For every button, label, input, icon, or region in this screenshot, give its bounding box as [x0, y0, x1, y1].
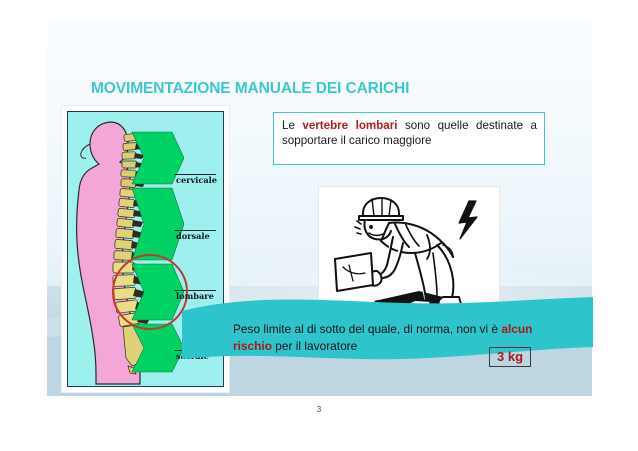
footer-note-before: Peso limite al di sotto del quale, di no… — [233, 322, 501, 336]
footer-note-after: per il lavoratore — [272, 339, 357, 353]
weight-badge: 3 kg — [489, 347, 531, 367]
callout-textbox: Le vertebre lombari sono quelle destinat… — [273, 112, 545, 165]
callout-paragraph: Le vertebre lombari sono quelle destinat… — [282, 118, 537, 148]
screenshot-root: MOVIMENTAZIONE MANUALE DEI CARICHI — [0, 0, 638, 451]
page-number: 3 — [0, 405, 638, 414]
page-title: MOVIMENTAZIONE MANUALE DEI CARICHI — [91, 80, 409, 98]
spine-label-dorsale: dorsale — [176, 231, 210, 241]
region-chevrons-icon — [126, 126, 188, 376]
spine-label-cervicale: cervicale — [176, 175, 217, 185]
callout-emphasis: vertebre lombari — [302, 119, 397, 132]
callout-text-before: Le — [282, 119, 302, 132]
